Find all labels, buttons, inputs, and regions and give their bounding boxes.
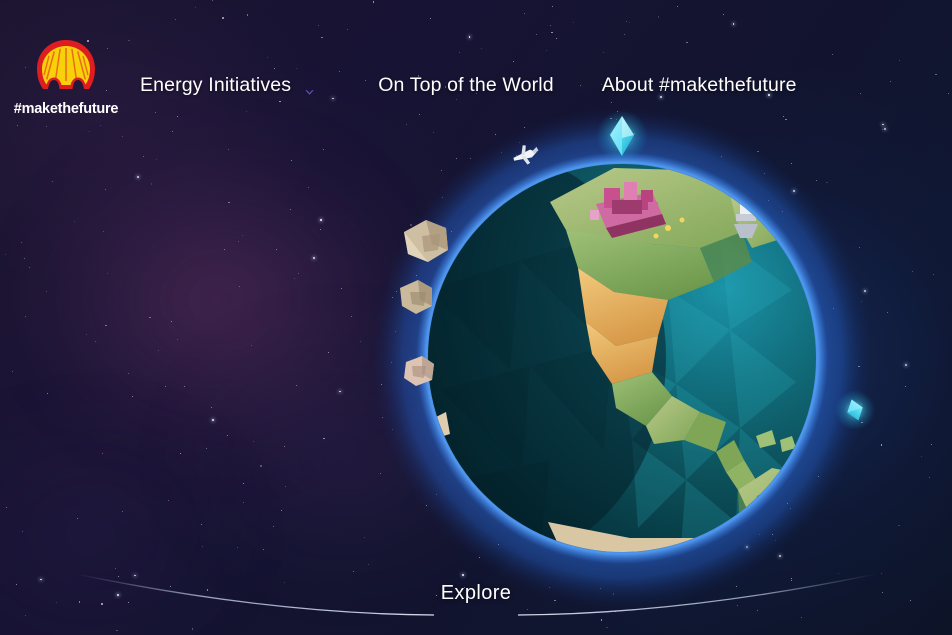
star: [887, 312, 888, 313]
nav-label: Energy Initiatives: [140, 74, 291, 97]
star: [251, 345, 252, 346]
star: [364, 537, 365, 538]
star: [323, 438, 324, 439]
earth-globe[interactable]: [400, 140, 870, 580]
star: [158, 350, 159, 351]
star: [323, 149, 324, 150]
star: [898, 525, 899, 526]
star: [905, 386, 906, 387]
star: [351, 316, 352, 317]
globe-illustration: [400, 140, 870, 580]
star: [192, 628, 193, 629]
star: [881, 444, 882, 445]
nav-item-about-makethefuture[interactable]: About #makethefuture: [602, 70, 797, 101]
star: [22, 531, 23, 532]
star: [107, 273, 108, 274]
star: [171, 321, 172, 322]
star: [260, 465, 261, 466]
star: [177, 339, 178, 340]
star: [905, 364, 907, 366]
site-header: #makethefuture Energy Initiatives On Top…: [0, 0, 952, 140]
space-background: #makethefuture Energy Initiatives On Top…: [0, 0, 952, 635]
star: [116, 630, 117, 631]
star: [128, 373, 129, 374]
star: [228, 149, 229, 150]
star: [253, 441, 254, 442]
star: [933, 274, 934, 275]
star: [313, 257, 315, 259]
star: [284, 446, 285, 447]
brand-logo[interactable]: #makethefuture: [8, 38, 124, 117]
star: [931, 444, 932, 445]
star: [103, 231, 104, 232]
star: [5, 254, 6, 255]
star: [77, 518, 78, 519]
star: [206, 448, 207, 449]
star: [151, 183, 152, 184]
star: [180, 453, 181, 454]
star: [239, 286, 240, 287]
star: [341, 288, 342, 289]
star: [168, 500, 169, 501]
star: [328, 352, 329, 353]
star: [95, 341, 96, 342]
star: [360, 341, 361, 342]
star: [242, 235, 243, 236]
star: [237, 547, 238, 548]
star: [294, 278, 295, 279]
star: [201, 524, 202, 525]
star: [339, 391, 341, 393]
explore-section: Explore: [0, 566, 952, 622]
star: [184, 386, 185, 387]
star: [74, 221, 75, 222]
nebula-glow-left: [40, 150, 400, 450]
explore-button[interactable]: Explore: [0, 582, 952, 605]
hotspot-marker-east[interactable]: [835, 390, 875, 430]
star: [165, 386, 166, 387]
star: [149, 317, 150, 318]
star: [308, 187, 309, 188]
star: [263, 549, 264, 550]
star: [105, 189, 106, 190]
nav-item-energy-initiatives[interactable]: Energy Initiatives: [140, 70, 315, 101]
star: [224, 249, 225, 250]
star: [243, 502, 244, 503]
nav-label: About #makethefuture: [602, 74, 797, 97]
star: [273, 526, 274, 527]
star: [29, 267, 30, 268]
star: [912, 271, 913, 272]
shell-pecten-icon: [34, 38, 98, 94]
star: [105, 325, 106, 326]
star: [24, 258, 25, 259]
star: [380, 473, 381, 474]
star: [291, 160, 292, 161]
star: [243, 483, 244, 484]
star: [276, 249, 277, 250]
chevron-down-icon[interactable]: [304, 81, 315, 92]
star: [86, 334, 87, 335]
star: [228, 202, 229, 203]
star: [47, 393, 48, 394]
star: [21, 242, 22, 243]
star: [132, 396, 133, 397]
star: [6, 507, 7, 508]
star: [25, 316, 26, 317]
main-navigation: Energy Initiatives On Top of the World A…: [140, 70, 797, 101]
star: [227, 435, 228, 436]
star: [320, 219, 322, 221]
star: [211, 407, 212, 408]
star: [929, 477, 930, 478]
star: [298, 273, 299, 274]
star: [212, 419, 214, 421]
star: [137, 176, 139, 178]
star: [290, 209, 291, 210]
star: [281, 510, 282, 511]
star: [12, 371, 13, 372]
star: [285, 486, 286, 487]
star: [143, 156, 144, 157]
nav-label: On Top of the World: [378, 74, 554, 97]
star: [52, 181, 53, 182]
star: [46, 291, 47, 292]
star: [921, 456, 922, 457]
star: [320, 229, 321, 230]
nav-item-on-top-of-the-world[interactable]: On Top of the World: [378, 70, 554, 101]
star: [102, 453, 103, 454]
star: [238, 241, 239, 242]
star: [606, 627, 607, 628]
star: [156, 159, 157, 160]
brand-wordmark: #makethefuture: [8, 101, 124, 117]
star: [296, 385, 297, 386]
star: [202, 546, 203, 547]
star: [122, 511, 123, 512]
